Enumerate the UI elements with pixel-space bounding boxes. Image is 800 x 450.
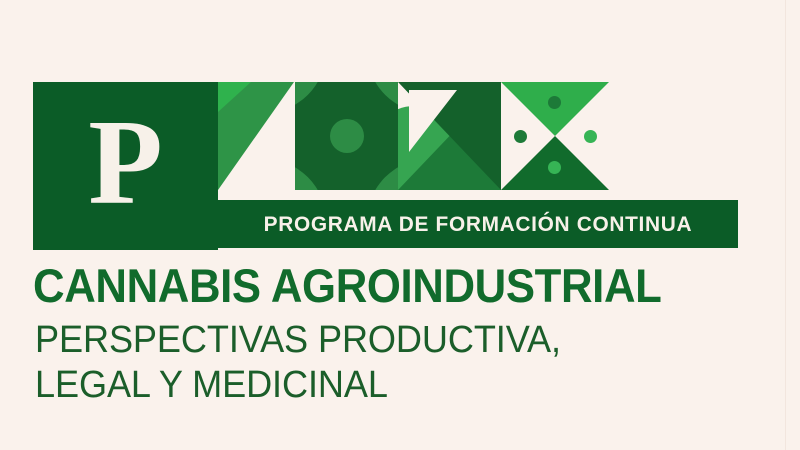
center-circle-shape bbox=[330, 119, 364, 153]
monogram-letter: P bbox=[33, 82, 218, 250]
bowtie-dot-left bbox=[514, 130, 527, 143]
program-banner: PROGRAMA DE FORMACIÓN CONTINUA bbox=[218, 200, 738, 248]
diagonal-accent-shape bbox=[218, 82, 251, 112]
bowtie-dot-bottom bbox=[548, 161, 561, 174]
quarter-circle-top-right bbox=[367, 82, 398, 113]
poster-canvas: P PROGRAMA DE FORMAC bbox=[0, 0, 800, 450]
quarter-circle-bottom-left bbox=[295, 159, 326, 190]
bowtie-dot-right bbox=[584, 130, 597, 143]
right-edge-rule bbox=[785, 0, 786, 450]
page-subtitle-line-1: PERSPECTIVAS PRODUCTIVA, bbox=[35, 318, 561, 363]
bowtie-top-triangle bbox=[501, 82, 609, 136]
page-subtitle: PERSPECTIVAS PRODUCTIVA, LEGAL Y MEDICIN… bbox=[35, 318, 561, 408]
circles-tile bbox=[295, 82, 398, 190]
bowtie-tile bbox=[501, 82, 610, 190]
quarter-circle-bottom-right bbox=[367, 159, 398, 190]
page-subtitle-line-2: LEGAL Y MEDICINAL bbox=[35, 363, 561, 408]
arrow-notch-shape bbox=[409, 90, 457, 152]
bowtie-dot-top bbox=[548, 96, 561, 109]
arrow-tile bbox=[398, 82, 501, 190]
program-banner-label: PROGRAMA DE FORMACIÓN CONTINUA bbox=[264, 212, 693, 237]
page-title: CANNABIS AGROINDUSTRIAL bbox=[33, 262, 661, 311]
diagonal-tile bbox=[218, 82, 294, 190]
monogram-tile: P bbox=[33, 82, 218, 250]
quarter-circle-top-left bbox=[295, 82, 326, 113]
